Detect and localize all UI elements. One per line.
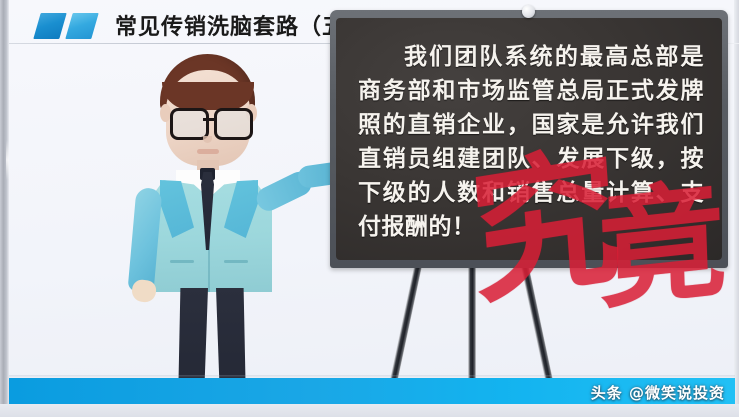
title-accent-marks: [37, 13, 99, 39]
blackboard-surface: 我们团队系统的最高总部是商务部和市场监管总局正式发牌照的直销企业，国家是允许我们…: [336, 18, 722, 260]
right-frame-edge: [734, 0, 739, 417]
glasses-lens-right: [214, 108, 253, 140]
left-frame-edge: [0, 0, 9, 417]
left-frame-highlight: [6, 140, 9, 180]
blackboard-text: 我们团队系统的最高总部是商务部和市场监管总局正式发牌照的直销企业，国家是允许我们…: [358, 40, 704, 244]
mouth: [197, 149, 219, 154]
blackboard-knob-icon: [522, 5, 535, 18]
accent-parallelogram-left: [33, 13, 66, 39]
accent-parallelogram-right: [65, 13, 98, 39]
pocket-left: [170, 260, 194, 263]
hair-fringe: [162, 82, 254, 110]
presenter-illustration: [98, 52, 343, 402]
bottom-frame-edge: [0, 404, 739, 417]
slide-canvas: 常见传销洗脑套路（五）: [0, 0, 739, 417]
blackboard: 我们团队系统的最高总部是商务部和市场监管总局正式发牌照的直销企业，国家是允许我们…: [330, 10, 728, 268]
pocket-right: [224, 260, 248, 263]
glasses-bridge: [203, 118, 215, 121]
source-watermark: 头条 @微笑说投资: [591, 382, 725, 403]
